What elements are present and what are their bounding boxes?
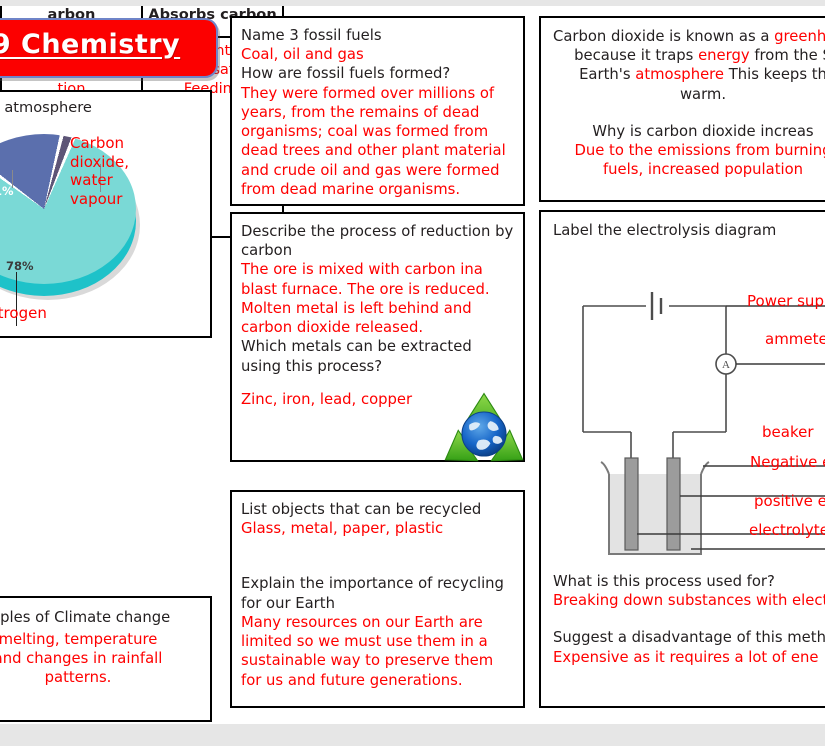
climate-question: mples of Climate change [0, 608, 214, 627]
fossil-fuels-answer-2: They were formed over millions of years,… [241, 84, 514, 199]
co2-increase-answer: Due to the emissions from burning fuels,… [553, 141, 825, 179]
pie-label-oxygen: oxygen [0, 126, 1, 144]
recycling-panel: List objects that can be recycled Glass,… [230, 490, 525, 708]
greenhouse-text-d: Earth's [579, 66, 635, 83]
label-negative-electrode: Negative e [750, 453, 825, 471]
atmosphere-pie-panel: und in atmosphere 21% 78% oxygen nitroge… [0, 90, 212, 338]
pie-label-carbon-dioxide: Carbon dioxide, water vapour [70, 134, 162, 208]
pie-leader-oxygen [12, 170, 13, 188]
recycling-question-1: List objects that can be recycled [241, 500, 514, 519]
greenhouse-line-2: because it traps energy from the S [553, 46, 825, 65]
label-beaker: beaker [762, 423, 814, 441]
fossil-fuels-question-1: Name 3 fossil fuels [241, 26, 514, 45]
pie-label-nitrogen: nitrogen [0, 304, 47, 322]
label-positive-electrode: positive el [754, 492, 825, 510]
electrolysis-answer-2: Expensive as it requires a lot of ene [553, 648, 825, 667]
electrolysis-question-1: What is this process used for? [553, 572, 825, 591]
co2-increase-question: Why is carbon dioxide increas [553, 122, 825, 141]
electrolysis-heading: Label the electrolysis diagram [553, 221, 776, 240]
greenhouse-line-4: warm. [553, 85, 825, 104]
fossil-fuels-answer-1: Coal, oil and gas [241, 45, 514, 64]
bottom-edge-band [0, 724, 825, 746]
energy-keyword: energy [698, 47, 750, 64]
greenhouse-text-b: because it traps [574, 47, 698, 64]
ammeter-symbol-text: A [722, 359, 730, 371]
title-banner: 9 Chemistry [0, 18, 218, 78]
recycling-question-2: Explain the importance of recycling for … [241, 574, 514, 612]
greenhouse-text-a: Carbon dioxide is known as a [553, 28, 774, 45]
greenhouse-gas-panel: Carbon dioxide is known as a greenh beca… [539, 16, 825, 202]
electrolysis-questions: What is this process used for? Breaking … [553, 572, 825, 667]
reduction-question-1: Describe the process of reduction by car… [241, 222, 514, 260]
pie-panel-heading: und in atmosphere [0, 99, 92, 116]
top-edge-band [0, 0, 825, 6]
revision-mat-page: 9 Chemistry und in atmosphere 21% 78% ox… [0, 0, 825, 746]
electrolysis-question-2: Suggest a disadvantage of this meth [553, 628, 825, 647]
atmosphere-keyword: atmosphere [635, 66, 724, 83]
pie-pct-nitrogen: 78% [6, 259, 34, 273]
label-power-supply: Power supp [747, 292, 825, 310]
climate-answer: melting, temperature and changes in rain… [0, 630, 214, 688]
recycling-answer-2: Many resources on our Earth are limited … [241, 613, 514, 690]
page-title: 9 Chemistry [0, 29, 216, 60]
electrolysis-panel: Label the electrolysis diagram A [539, 210, 825, 708]
fossil-fuels-panel: Name 3 fossil fuels Coal, oil and gas Ho… [230, 16, 525, 206]
label-ammeter: ammeter [765, 330, 825, 348]
fossil-fuels-question-2: How are fossil fuels formed? [241, 64, 514, 83]
recycling-answer-1: Glass, metal, paper, plastic [241, 519, 514, 538]
greenhouse-line-1: Carbon dioxide is known as a greenh [553, 27, 825, 46]
climate-change-panel: mples of Climate change melting, tempera… [0, 596, 212, 722]
greenhouse-text-e: This keeps th [724, 66, 825, 83]
greenhouse-text-c: from the S [750, 47, 825, 64]
reduction-question-2: Which metals can be extracted using this… [241, 337, 514, 375]
label-electrolyte: electrolyte [749, 521, 825, 539]
beaker-shape [601, 462, 709, 554]
electrode-left [625, 458, 638, 550]
electrode-right [667, 458, 680, 550]
electrolysis-answer-1: Breaking down substances with elect [553, 591, 825, 610]
recycle-globe-icon [438, 388, 530, 480]
reduction-answer-1: The ore is mixed with carbon ina blast f… [241, 260, 514, 337]
greenhouse-keyword: greenh [774, 28, 825, 45]
greenhouse-line-3: Earth's atmosphere This keeps th [553, 65, 825, 84]
